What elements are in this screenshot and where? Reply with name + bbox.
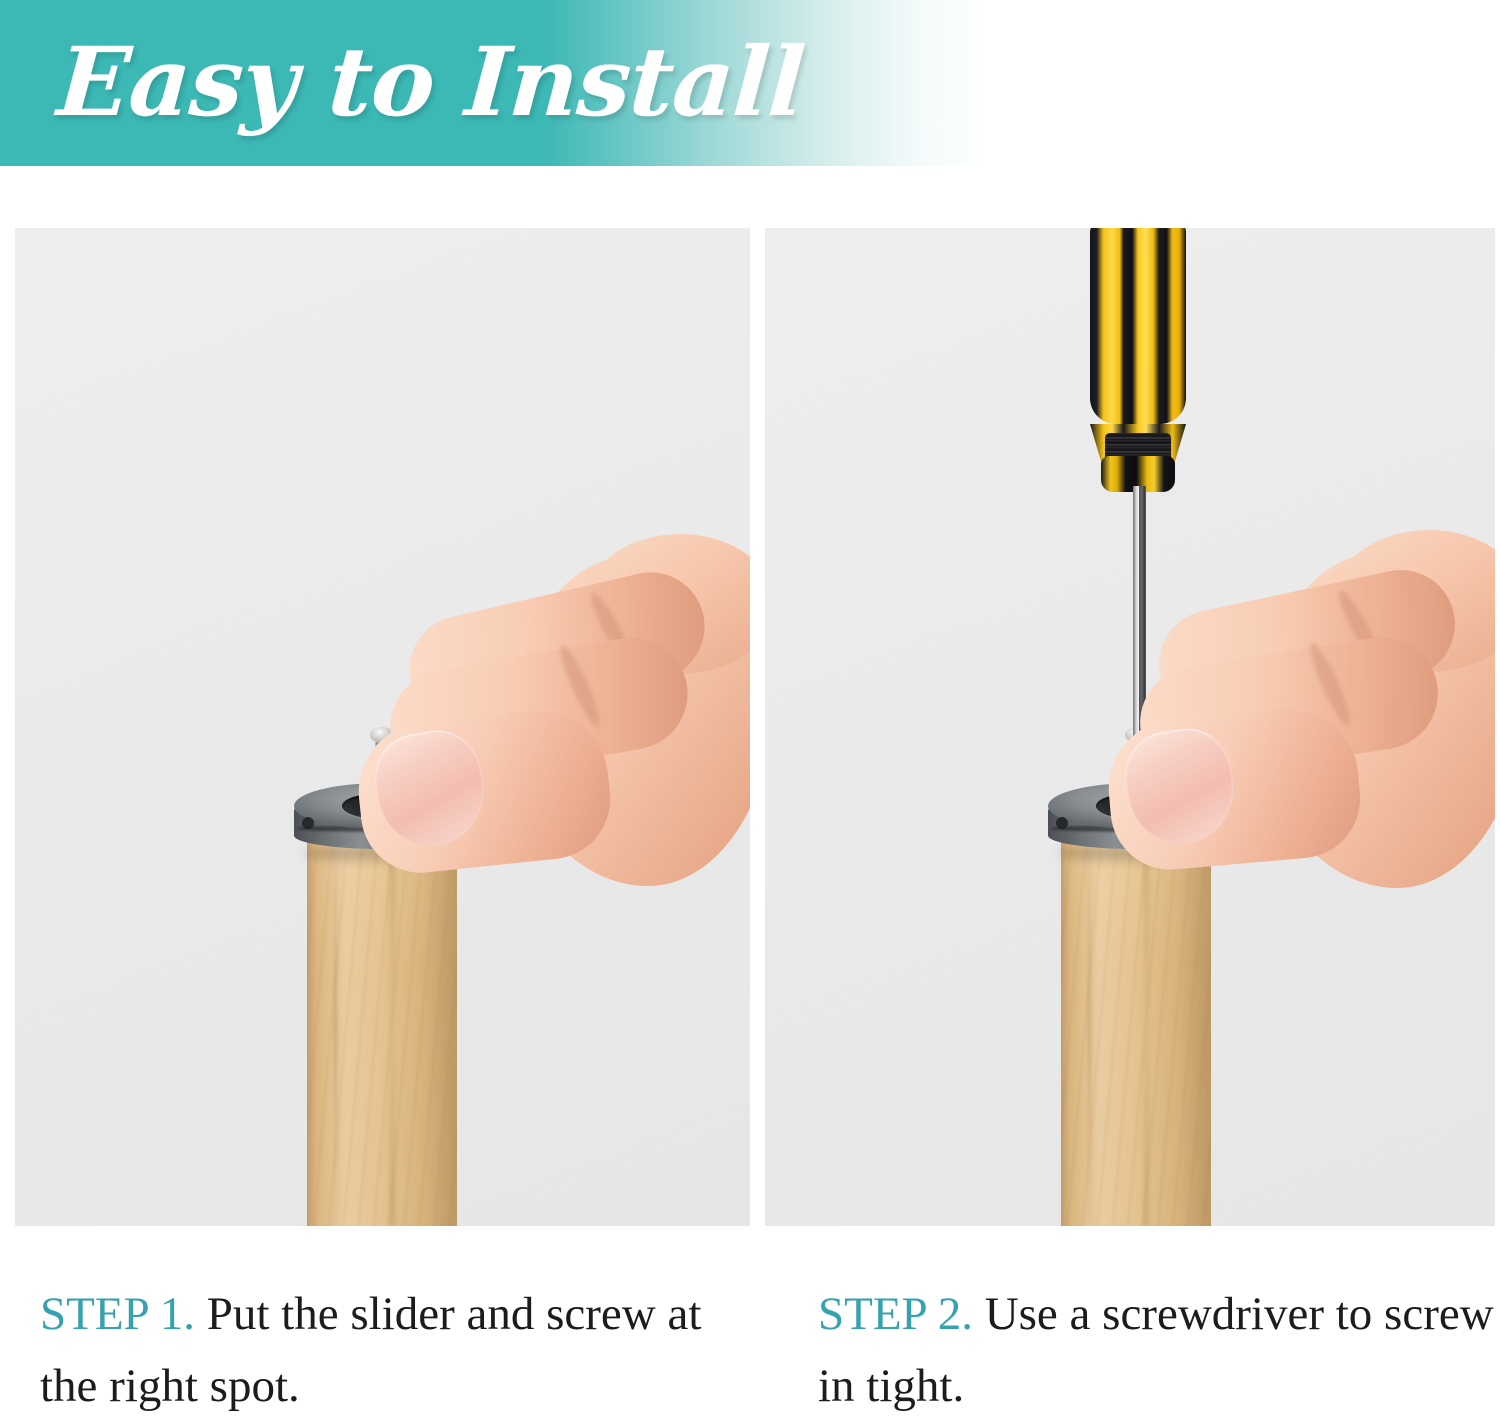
step-captions: STEP 1. Put the slider and screw at the … (0, 1278, 1500, 1428)
step-2-photo (765, 228, 1495, 1226)
hand (1047, 528, 1495, 948)
step-2-label: STEP 2. (818, 1288, 973, 1340)
step-1-photo (15, 228, 750, 1226)
caption-step-2: STEP 2. Use a screwdriver to screw in ti… (818, 1278, 1498, 1422)
header-banner: Easy to Install (0, 0, 990, 166)
hand (285, 528, 750, 948)
caption-step-1: STEP 1. Put the slider and screw at the … (40, 1278, 740, 1422)
screwdriver-handle (1090, 228, 1186, 424)
page-title: Easy to Install (53, 18, 808, 148)
instruction-panels (0, 228, 1500, 1226)
step-1-label: STEP 1. (40, 1288, 195, 1340)
